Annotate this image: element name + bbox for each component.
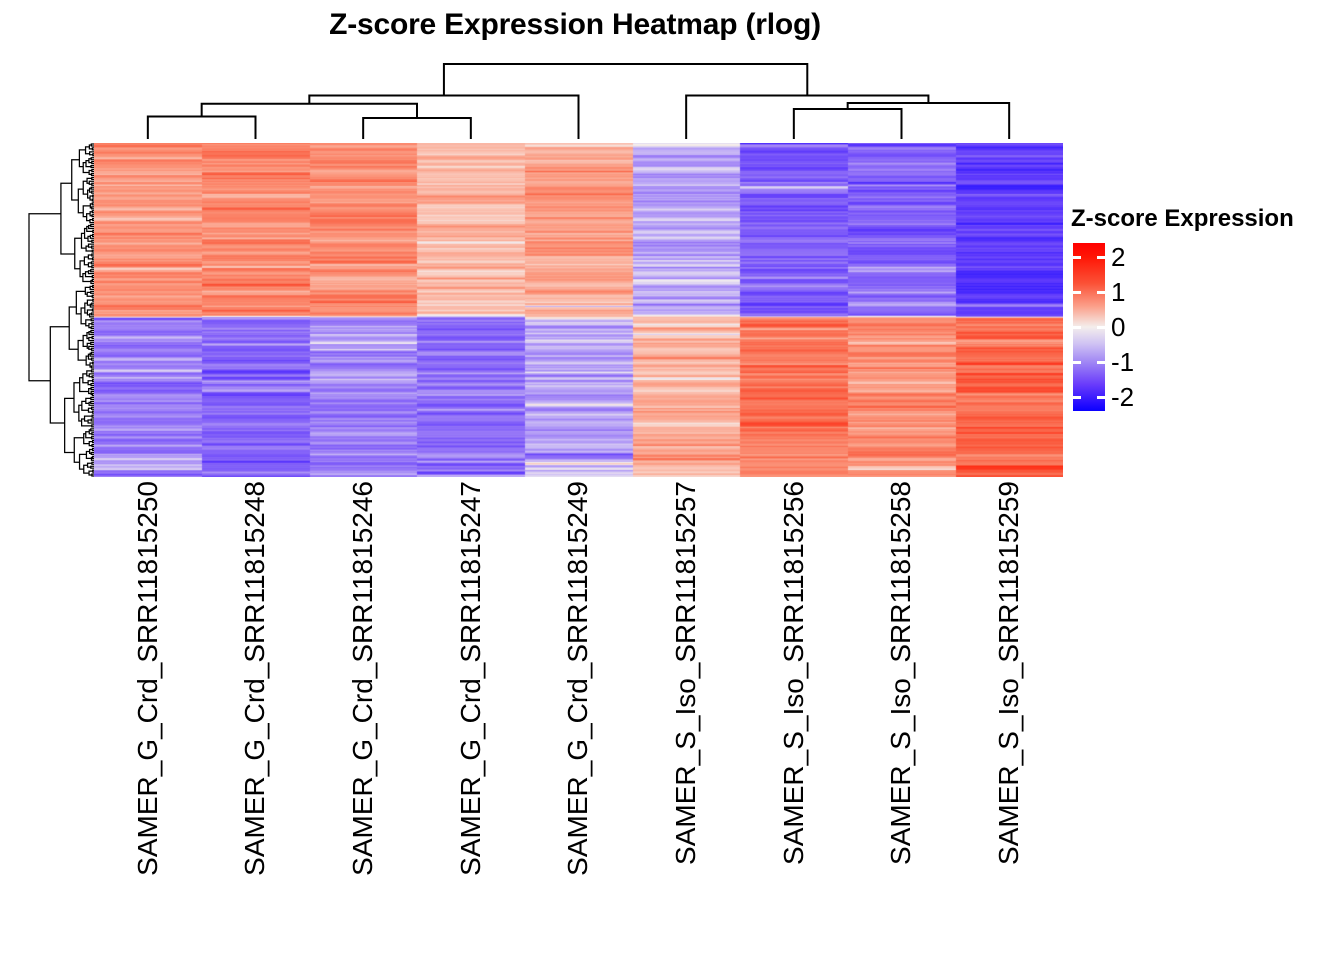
colorbar-tick: [1073, 256, 1081, 259]
row-dendrogram-lines: [29, 144, 94, 476]
colorbar-tick: [1073, 361, 1081, 364]
column-label-4: SAMER_G_Crd_SRR11815249: [525, 477, 633, 947]
colorbar-tick-label-3: -1: [1111, 349, 1134, 375]
column-label-axis: SAMER_G_Crd_SRR11815250SAMER_G_Crd_SRR11…: [94, 477, 1063, 947]
page-title: Z-score Expression Heatmap (rlog): [0, 8, 1150, 42]
column-label-2: SAMER_G_Crd_SRR11815246: [309, 477, 417, 947]
column-label-8: SAMER_S_Iso_SRR11815259: [955, 477, 1063, 947]
column-label-text: SAMER_S_Iso_SRR11815259: [995, 481, 1023, 865]
column-label-3: SAMER_G_Crd_SRR11815247: [417, 477, 525, 947]
colorbar-tick: [1097, 291, 1105, 294]
colorbar-tick: [1097, 326, 1105, 329]
column-label-6: SAMER_S_Iso_SRR11815256: [740, 477, 848, 947]
column-label-text: SAMER_G_Crd_SRR11815249: [564, 481, 592, 876]
colorbar: 210-1-2: [1071, 239, 1271, 419]
colorbar-legend: Z-score Expression 210-1-2: [1071, 205, 1294, 419]
colorbar-tick: [1097, 256, 1105, 259]
heatmap-figure: Z-score Expression Heatmap (rlog) SAMER_…: [0, 0, 1344, 960]
colorbar-tick: [1097, 361, 1105, 364]
column-dendrogram: [94, 60, 1063, 143]
column-dendrogram-lines: [148, 64, 1009, 139]
colorbar-tick: [1073, 291, 1081, 294]
column-label-text: SAMER_G_Crd_SRR11815247: [457, 481, 485, 876]
column-label-text: SAMER_G_Crd_SRR11815246: [349, 481, 377, 876]
colorbar-tick-label-2: 0: [1111, 314, 1125, 340]
colorbar-tick-label-0: 2: [1111, 244, 1125, 270]
colorbar-tick: [1073, 396, 1081, 399]
column-label-text: SAMER_G_Crd_SRR11815248: [241, 481, 269, 876]
column-label-7: SAMER_S_Iso_SRR11815258: [848, 477, 956, 947]
column-label-text: SAMER_S_Iso_SRR11815257: [672, 481, 700, 865]
column-label-0: SAMER_G_Crd_SRR11815250: [94, 477, 202, 947]
colorbar-tick-label-1: 1: [1111, 279, 1125, 305]
heatmap-body[interactable]: [94, 143, 1063, 477]
colorbar-tick-label-4: -2: [1111, 384, 1134, 410]
legend-title: Z-score Expression: [1071, 205, 1294, 233]
colorbar-tick: [1073, 326, 1081, 329]
column-label-1: SAMER_G_Crd_SRR11815248: [202, 477, 310, 947]
row-dendrogram: [18, 143, 94, 477]
column-label-text: SAMER_S_Iso_SRR11815258: [887, 481, 915, 865]
column-label-text: SAMER_G_Crd_SRR11815250: [134, 481, 162, 876]
column-label-5: SAMER_S_Iso_SRR11815257: [632, 477, 740, 947]
colorbar-tick: [1097, 396, 1105, 399]
column-label-text: SAMER_S_Iso_SRR11815256: [780, 481, 808, 865]
heatmap-canvas[interactable]: [94, 143, 1063, 477]
